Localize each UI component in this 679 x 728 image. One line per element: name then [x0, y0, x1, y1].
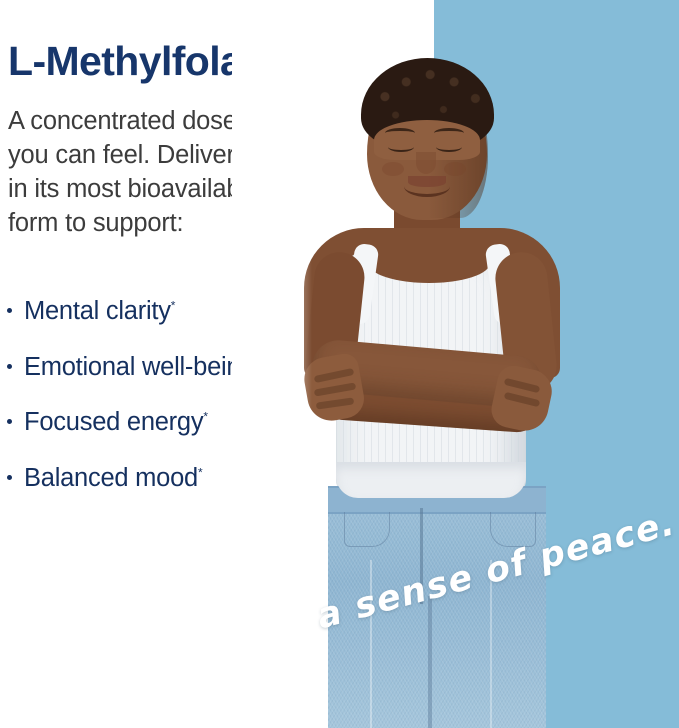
model-smile	[404, 176, 450, 197]
jeans-inseam	[428, 596, 432, 728]
bullet-dot-icon	[7, 364, 12, 369]
bullet-dot-icon	[7, 475, 12, 480]
model-eye-closed-left	[388, 142, 414, 152]
footnote-marker: *	[171, 299, 175, 313]
bullet-dot-icon	[7, 308, 12, 313]
product-hero-image: L-Methylfolate A concentrated dose you c…	[0, 0, 679, 728]
benefit-label: Focused energy	[24, 408, 203, 436]
model-eye-closed-right	[436, 142, 462, 152]
tank-hem	[336, 462, 526, 498]
benefit-label: Emotional well-being	[24, 353, 254, 381]
benefit-label: Mental clarity	[24, 297, 171, 325]
tank-neckline	[368, 243, 490, 283]
model-nose	[416, 152, 436, 174]
model-eyebrow-left	[385, 128, 415, 138]
benefit-label: Balanced mood	[24, 464, 198, 492]
model-cheek-left	[382, 162, 404, 176]
jeans-pocket-left	[344, 512, 390, 547]
model-cheek-right	[444, 162, 466, 176]
footnote-marker: *	[203, 410, 207, 424]
footnote-marker: *	[198, 465, 202, 479]
bullet-dot-icon	[7, 419, 12, 424]
model-eyebrow-right	[434, 128, 464, 138]
photo-left-mask	[232, 0, 287, 728]
model-photo	[232, 0, 679, 728]
